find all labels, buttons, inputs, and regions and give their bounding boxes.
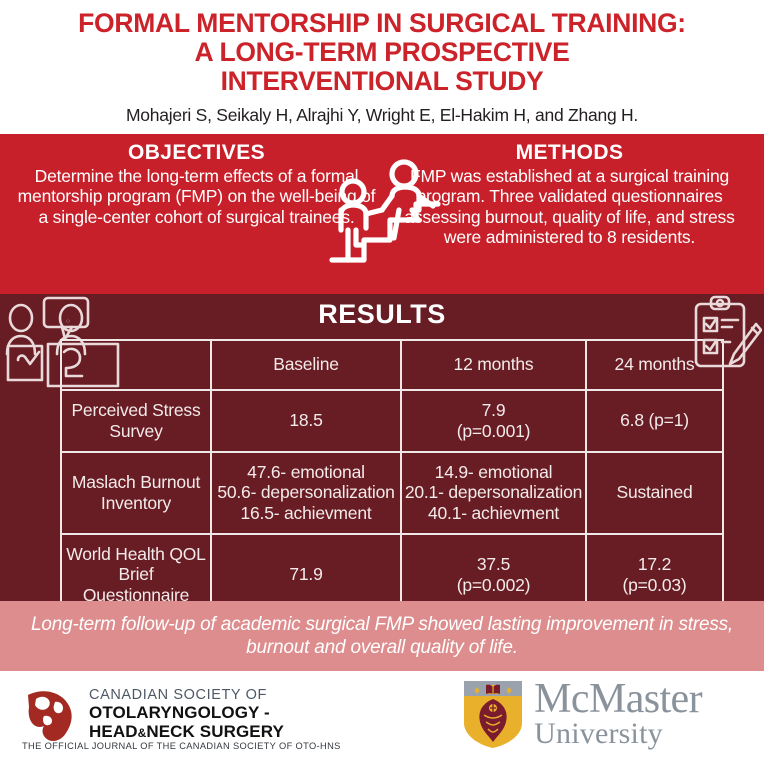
maslach-baseline-achievement: 16.5- achievment — [214, 503, 398, 523]
title-line-3: INTERVENTIONAL STUDY — [18, 67, 746, 96]
table-header-row: Baseline 12 months 24 months — [61, 340, 723, 390]
methods-heading: METHODS — [387, 141, 752, 165]
objectives-methods-band: OBJECTIVES Determine the long-term effec… — [0, 134, 764, 294]
maslach-baseline-emotional: 47.6- emotional — [214, 462, 398, 482]
column-header-blank — [61, 340, 211, 390]
column-header-baseline: Baseline — [211, 340, 401, 390]
page-title: FORMAL MENTORSHIP IN SURGICAL TRAINING: … — [18, 9, 746, 96]
cso-line-2: OTOLARYNGOLOGY - — [89, 703, 284, 722]
cso-head-profile-icon — [22, 689, 80, 743]
objectives-heading: OBJECTIVES — [14, 141, 379, 165]
cso-line-1: CANADIAN SOCIETY OF — [89, 687, 284, 703]
cell-stress-12-months: 7.9(p=0.001) — [401, 390, 586, 452]
footer-logos: CANADIAN SOCIETY OF OTOLARYNGOLOGY - HEA… — [0, 671, 764, 757]
mcmaster-line-1: McMaster — [534, 680, 702, 719]
mcmaster-logo: McMaster University — [462, 679, 702, 749]
poster-root: FORMAL MENTORSHIP IN SURGICAL TRAINING: … — [0, 0, 764, 757]
cso-line-3: HEAD&NECK SURGERY — [89, 722, 284, 741]
title-line-1: FORMAL MENTORSHIP IN SURGICAL TRAINING: — [18, 9, 746, 38]
cell-qol-12-months: 37.5(p=0.002) — [401, 534, 586, 601]
column-header-12-months: 12 months — [401, 340, 586, 390]
conclusion-banner: Long-term follow-up of academic surgical… — [0, 601, 764, 671]
row-label-maslach-burnout: Maslach Burnout Inventory — [61, 452, 211, 534]
methods-text: FMP was established at a surgical traini… — [387, 166, 752, 248]
cso-line-3-neck: NECK SURGERY — [146, 722, 284, 741]
cell-qol-baseline: 71.9 — [211, 534, 401, 601]
table-row: World Health QOL Brief Questionnaire 71.… — [61, 534, 723, 601]
results-section: RESULTS Baseline 12 months 24 months — [0, 294, 764, 601]
row-label-perceived-stress: Perceived Stress Survey — [61, 390, 211, 452]
clipboard-checklist-icon — [682, 294, 762, 390]
author-list: Mohajeri S, Seikaly H, Alrajhi Y, Wright… — [18, 105, 746, 126]
cell-maslach-24-months: Sustained — [586, 452, 723, 534]
mcmaster-line-2: University — [534, 720, 702, 748]
results-table-wrapper: Baseline 12 months 24 months Perceived S… — [60, 339, 722, 601]
cso-logo: CANADIAN SOCIETY OF OTOLARYNGOLOGY - HEA… — [22, 687, 402, 743]
maslach-12-depersonalization: 20.1- depersonalization — [404, 482, 583, 502]
row-label-world-health-qol: World Health QOL Brief Questionnaire — [61, 534, 211, 601]
cell-qol-24-months: 17.2(p=0.03) — [586, 534, 723, 601]
results-heading: RESULTS — [0, 294, 764, 330]
results-table: Baseline 12 months 24 months Perceived S… — [60, 339, 724, 601]
objectives-section: OBJECTIVES Determine the long-term effec… — [0, 134, 383, 227]
cso-line-3-head: HEAD — [89, 722, 138, 741]
maslach-baseline-depersonalization: 50.6- depersonalization — [214, 482, 398, 502]
cell-maslach-baseline: 47.6- emotional 50.6- depersonalization … — [211, 452, 401, 534]
cso-tagline: THE OFFICIAL JOURNAL OF THE CANADIAN SOC… — [22, 741, 341, 751]
cell-stress-baseline: 18.5 — [211, 390, 401, 452]
title-line-2: A LONG-TERM PROSPECTIVE — [18, 38, 746, 67]
maslach-12-emotional: 14.9- emotional — [404, 462, 583, 482]
mcmaster-crest-icon — [462, 679, 524, 749]
objectives-text: Determine the long-term effects of a for… — [14, 166, 379, 227]
cso-wordmark: CANADIAN SOCIETY OF OTOLARYNGOLOGY - HEA… — [89, 687, 284, 741]
maslach-12-achievement: 40.1- achievment — [404, 503, 583, 523]
cell-stress-24-months: 6.8 (p=1) — [586, 390, 723, 452]
mcmaster-wordmark: McMaster University — [534, 680, 702, 748]
methods-section: METHODS FMP was established at a surgica… — [383, 134, 764, 248]
table-row: Maslach Burnout Inventory 47.6- emotiona… — [61, 452, 723, 534]
title-block: FORMAL MENTORSHIP IN SURGICAL TRAINING: … — [0, 0, 764, 126]
table-row: Perceived Stress Survey 18.5 7.9(p=0.001… — [61, 390, 723, 452]
cell-maslach-12-months: 14.9- emotional 20.1- depersonalization … — [401, 452, 586, 534]
